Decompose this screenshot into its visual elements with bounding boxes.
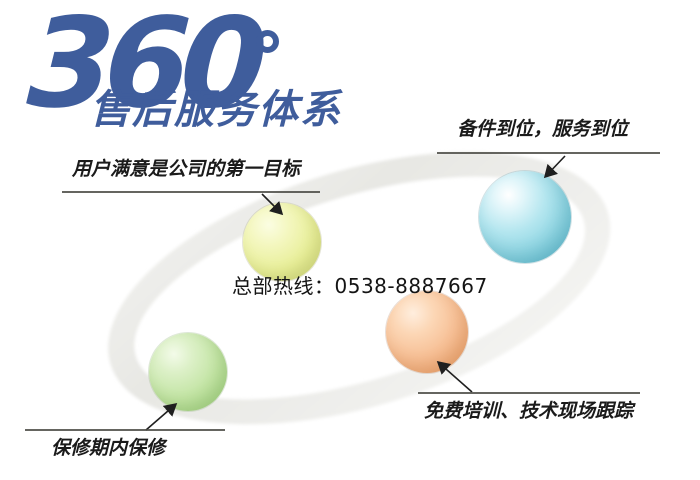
callout-spare-parts: 备件到位，服务到位 [437,118,662,158]
callout-free-training-label: 免费培训、技术现场跟踪 [424,400,633,422]
callout-warranty-label: 保修期内保修 [51,437,165,459]
callout-user-satisfaction: 用户满意是公司的第一目标 [62,158,324,198]
callout-warranty: 保修期内保修 [25,424,225,466]
callout-user-satisfaction-label: 用户满意是公司的第一目标 [72,158,300,180]
callout-spare-parts-label: 备件到位，服务到位 [457,118,628,140]
hotline-text: 总部热线：0538-8887667 [232,274,488,298]
poster-canvas: 360 售后服务体系 用户满意是公司 [0,0,700,480]
callout-user-satisfaction-rule [62,191,320,193]
callout-free-training: 免费培训、技术现场跟踪 [418,386,643,428]
callout-spare-parts-rule [437,152,660,154]
callout-free-training-rule [418,392,640,394]
callout-warranty-rule [25,429,225,431]
